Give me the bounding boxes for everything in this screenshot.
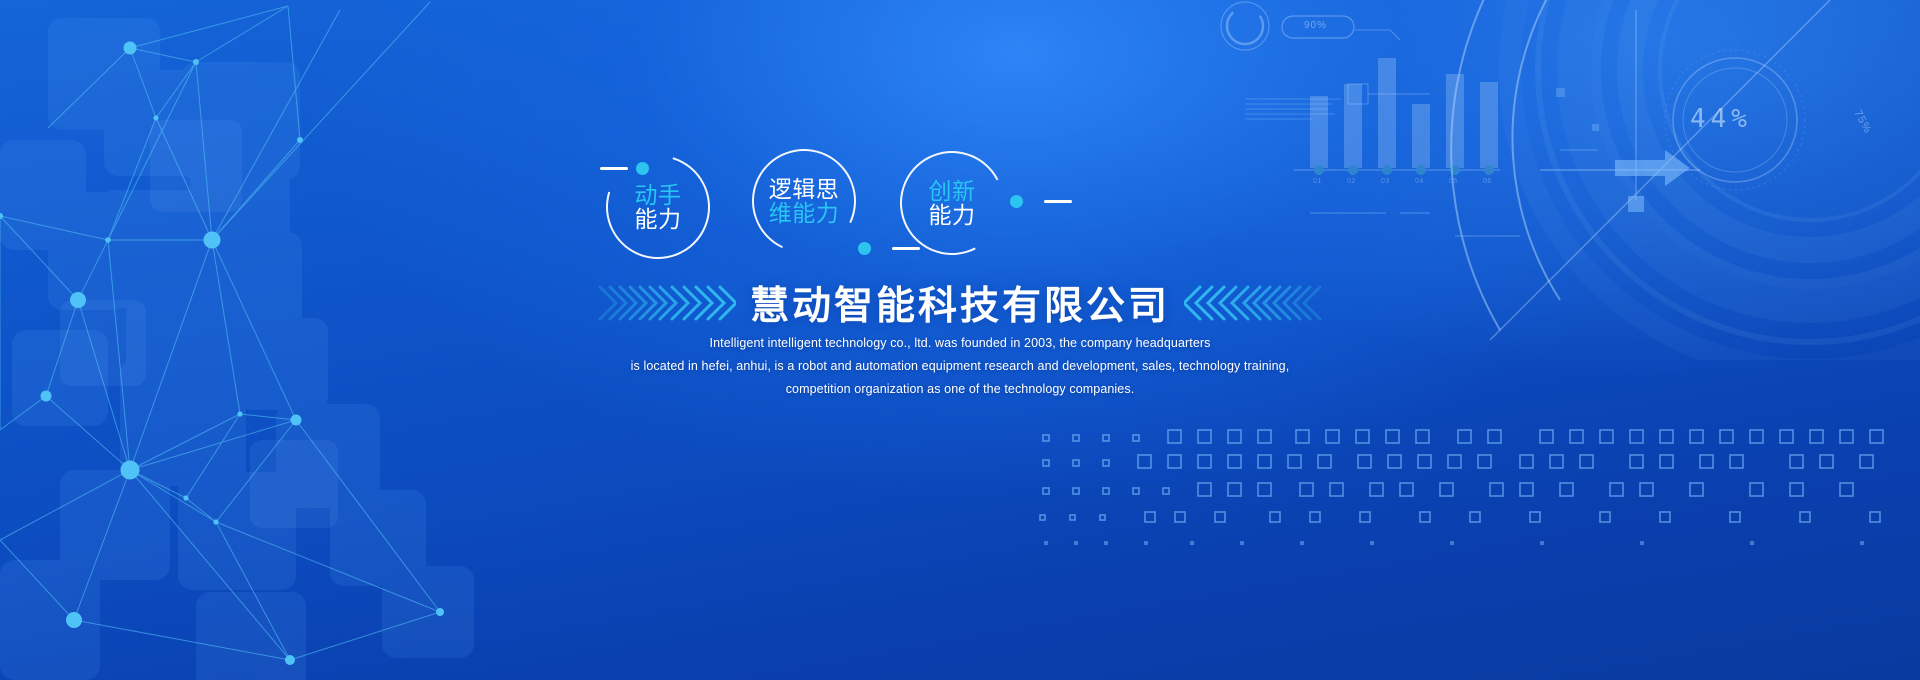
capability-badge-2[interactable]: 逻辑思 维能力 [752, 149, 856, 253]
chevron-ornament-left [596, 281, 736, 325]
badge-1-accent-dash [600, 167, 628, 170]
badge-1-accent-dot [636, 162, 649, 175]
company-description: Intelligent intelligent technology co., … [0, 332, 1920, 401]
badge-3-line-1: 创新 [929, 179, 976, 203]
badge-2-line-2: 维能力 [769, 201, 840, 225]
company-description-line-3: competition organization as one of the t… [0, 378, 1920, 401]
company-title: 慧动智能科技有限公司 [750, 275, 1170, 331]
badge-2-line-1: 逻辑思 [769, 177, 840, 201]
company-description-line-2: is located in hefei, anhui, is a robot a… [0, 355, 1920, 378]
chevron-ornament-right [1184, 281, 1324, 325]
badge-1-line-2: 能力 [635, 207, 682, 231]
badge-2-accent-dash [892, 247, 920, 250]
company-description-line-1: Intelligent intelligent technology co., … [0, 332, 1920, 355]
company-title-row: 慧动智能科技有限公司 [0, 275, 1920, 331]
badge-3-accent-dash [1044, 200, 1072, 203]
banner-content: 动手 能力 逻辑思 维能力 创新 能力 [0, 0, 1920, 680]
badge-1-line-1: 动手 [635, 183, 682, 207]
badge-3-line-2: 能力 [929, 203, 976, 227]
capability-badge-3[interactable]: 创新 能力 [900, 151, 1004, 255]
capability-badges: 动手 能力 逻辑思 维能力 创新 能力 [600, 145, 1040, 265]
hero-banner: 44% 90% 75% 01 02 03 04 05 06 [0, 0, 1920, 680]
badge-2-accent-dot [858, 242, 871, 255]
capability-badge-1[interactable]: 动手 能力 [606, 155, 710, 259]
badge-3-accent-dot [1010, 195, 1023, 208]
